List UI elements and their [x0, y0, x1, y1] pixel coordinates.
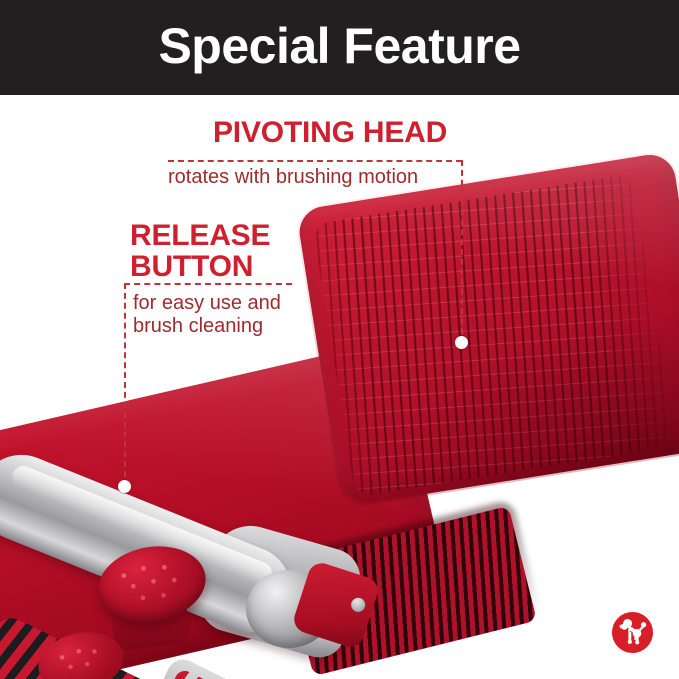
pivoting-brush-head [296, 151, 679, 507]
callout-leader-horizontal-pivoting-head [168, 160, 462, 162]
callout-marker-dot-release-button [118, 480, 131, 493]
callout-leader-horizontal-release-button [124, 283, 292, 285]
special-feature-image: Special Feature PIVOTING HEAD rotates wi… [0, 0, 679, 679]
callout-body-release-button: for easy use and brush cleaning [133, 292, 281, 338]
callout-body-pivoting-head: rotates with brushing motion [168, 166, 418, 189]
callout-title-release-button: RELEASE BUTTON [130, 221, 270, 282]
brush-bristles [312, 174, 675, 497]
callout-leader-vertical-pivoting-head [461, 160, 463, 344]
callout-marker-dot-pivoting-head [455, 336, 468, 349]
page-title: Special Feature [0, 0, 679, 95]
callout-leader-vertical-release-button [124, 283, 126, 487]
poodle-logo-icon [612, 612, 653, 653]
callout-title-pivoting-head: PIVOTING HEAD [213, 118, 447, 149]
